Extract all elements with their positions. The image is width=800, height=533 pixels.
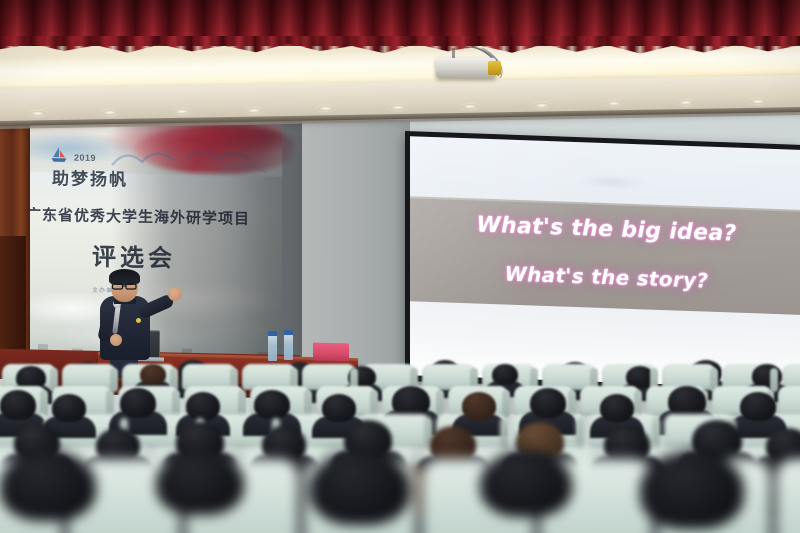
audience-head [600,394,634,422]
projector-lens [488,61,501,75]
presenter-right-hand [168,287,182,301]
water-bottle-cap [268,331,277,336]
projection-screen-frame: What's the big idea? What's the story? [405,131,800,395]
audience-seat [776,459,800,533]
curtain-top-shadow [0,0,800,52]
projection-screen-surface: What's the big idea? What's the story? [410,136,800,389]
foreground-seat-row [0,433,800,533]
audience-head [492,364,518,385]
audience-head [322,394,356,422]
audience-head [254,390,290,419]
wood-wall-panel-shadow [0,236,26,366]
audience-head [156,451,244,515]
audience-seat [778,386,800,416]
audience-seat-armrest [502,390,510,418]
auditorium-photo: 2019 助梦扬帆 广东省优秀大学生海外研学项目 评选会 主办单位 What's… [0,0,800,533]
banner-year: 2019 [74,153,96,163]
audience-head [310,451,410,525]
slide-faint-header [578,174,646,190]
audience-head [120,388,156,418]
audience-head [0,451,96,521]
water-bottle [284,334,293,360]
ceiling-projector [436,58,496,78]
audience-head [52,394,86,422]
water-bottle [268,335,277,361]
eyeglasses-icon [112,283,137,290]
audience-area [0,360,800,533]
audience-head [0,390,36,420]
audience-head [480,451,572,517]
audience-head [186,392,220,420]
audience-head [740,392,776,421]
audience-head [530,388,566,418]
audience-seat-armrest [110,368,118,392]
audience-head [140,364,166,385]
downlight [534,103,550,108]
audience-head [392,386,430,417]
name-badge [136,318,141,323]
presenter-left-hand [110,334,122,346]
audience-head [462,392,496,420]
audience-head [640,451,744,529]
water-bottle-cap [284,330,293,335]
downlight [246,108,262,113]
sailboat-icon [50,146,68,164]
slide-band-top-edge [410,196,800,212]
audience-seat-armrest [770,368,778,392]
pink-bag [313,343,349,362]
audience-head [668,386,706,417]
